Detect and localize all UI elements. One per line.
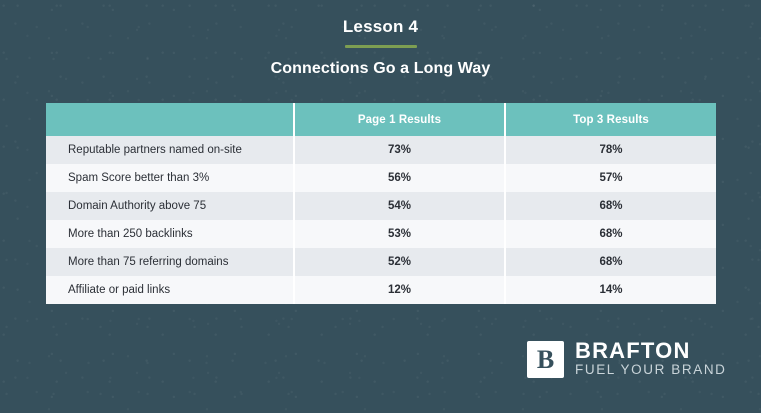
row-label: More than 75 referring domains bbox=[46, 248, 294, 276]
brafton-logo-letter: B bbox=[537, 347, 554, 373]
row-value-top3: 68% bbox=[505, 248, 716, 276]
brafton-wordmark: BRAFTON bbox=[575, 341, 727, 361]
row-label: Reputable partners named on-site bbox=[46, 136, 294, 164]
table-header: Page 1 Results Top 3 Results bbox=[46, 103, 716, 136]
page-title: Connections Go a Long Way bbox=[0, 60, 761, 78]
results-table: Page 1 Results Top 3 Results Reputable p… bbox=[46, 103, 716, 304]
table-row: Affiliate or paid links 12% 14% bbox=[46, 276, 716, 304]
slide-header: Lesson 4 Connections Go a Long Way bbox=[0, 16, 761, 78]
row-value-page1: 53% bbox=[294, 220, 505, 248]
brafton-tagline: FUEL YOUR BRAND bbox=[575, 362, 727, 378]
slide-canvas: Lesson 4 Connections Go a Long Way Page … bbox=[0, 0, 761, 413]
title-accent-rule bbox=[345, 45, 417, 48]
column-header-label bbox=[46, 103, 294, 136]
row-value-top3: 78% bbox=[505, 136, 716, 164]
table-row: Reputable partners named on-site 73% 78% bbox=[46, 136, 716, 164]
table-header-row: Page 1 Results Top 3 Results bbox=[46, 103, 716, 136]
row-value-page1: 54% bbox=[294, 192, 505, 220]
row-value-page1: 12% bbox=[294, 276, 505, 304]
results-table-container: Page 1 Results Top 3 Results Reputable p… bbox=[46, 103, 716, 304]
table-row: Spam Score better than 3% 56% 57% bbox=[46, 164, 716, 192]
brafton-logo: B BRAFTON FUEL YOUR BRAND bbox=[527, 341, 727, 378]
row-value-top3: 14% bbox=[505, 276, 716, 304]
lesson-title: Lesson 4 bbox=[0, 16, 761, 38]
row-value-page1: 56% bbox=[294, 164, 505, 192]
column-header-top3: Top 3 Results bbox=[505, 103, 716, 136]
row-label: Spam Score better than 3% bbox=[46, 164, 294, 192]
table-body: Reputable partners named on-site 73% 78%… bbox=[46, 136, 716, 304]
row-label: More than 250 backlinks bbox=[46, 220, 294, 248]
row-value-page1: 73% bbox=[294, 136, 505, 164]
row-value-top3: 68% bbox=[505, 192, 716, 220]
row-value-top3: 57% bbox=[505, 164, 716, 192]
brafton-logo-mark-icon: B bbox=[527, 341, 564, 378]
column-header-page1: Page 1 Results bbox=[294, 103, 505, 136]
table-row: More than 250 backlinks 53% 68% bbox=[46, 220, 716, 248]
row-value-top3: 68% bbox=[505, 220, 716, 248]
row-label: Domain Authority above 75 bbox=[46, 192, 294, 220]
row-value-page1: 52% bbox=[294, 248, 505, 276]
brafton-logo-text: BRAFTON FUEL YOUR BRAND bbox=[575, 341, 727, 378]
row-label: Affiliate or paid links bbox=[46, 276, 294, 304]
table-row: More than 75 referring domains 52% 68% bbox=[46, 248, 716, 276]
table-row: Domain Authority above 75 54% 68% bbox=[46, 192, 716, 220]
